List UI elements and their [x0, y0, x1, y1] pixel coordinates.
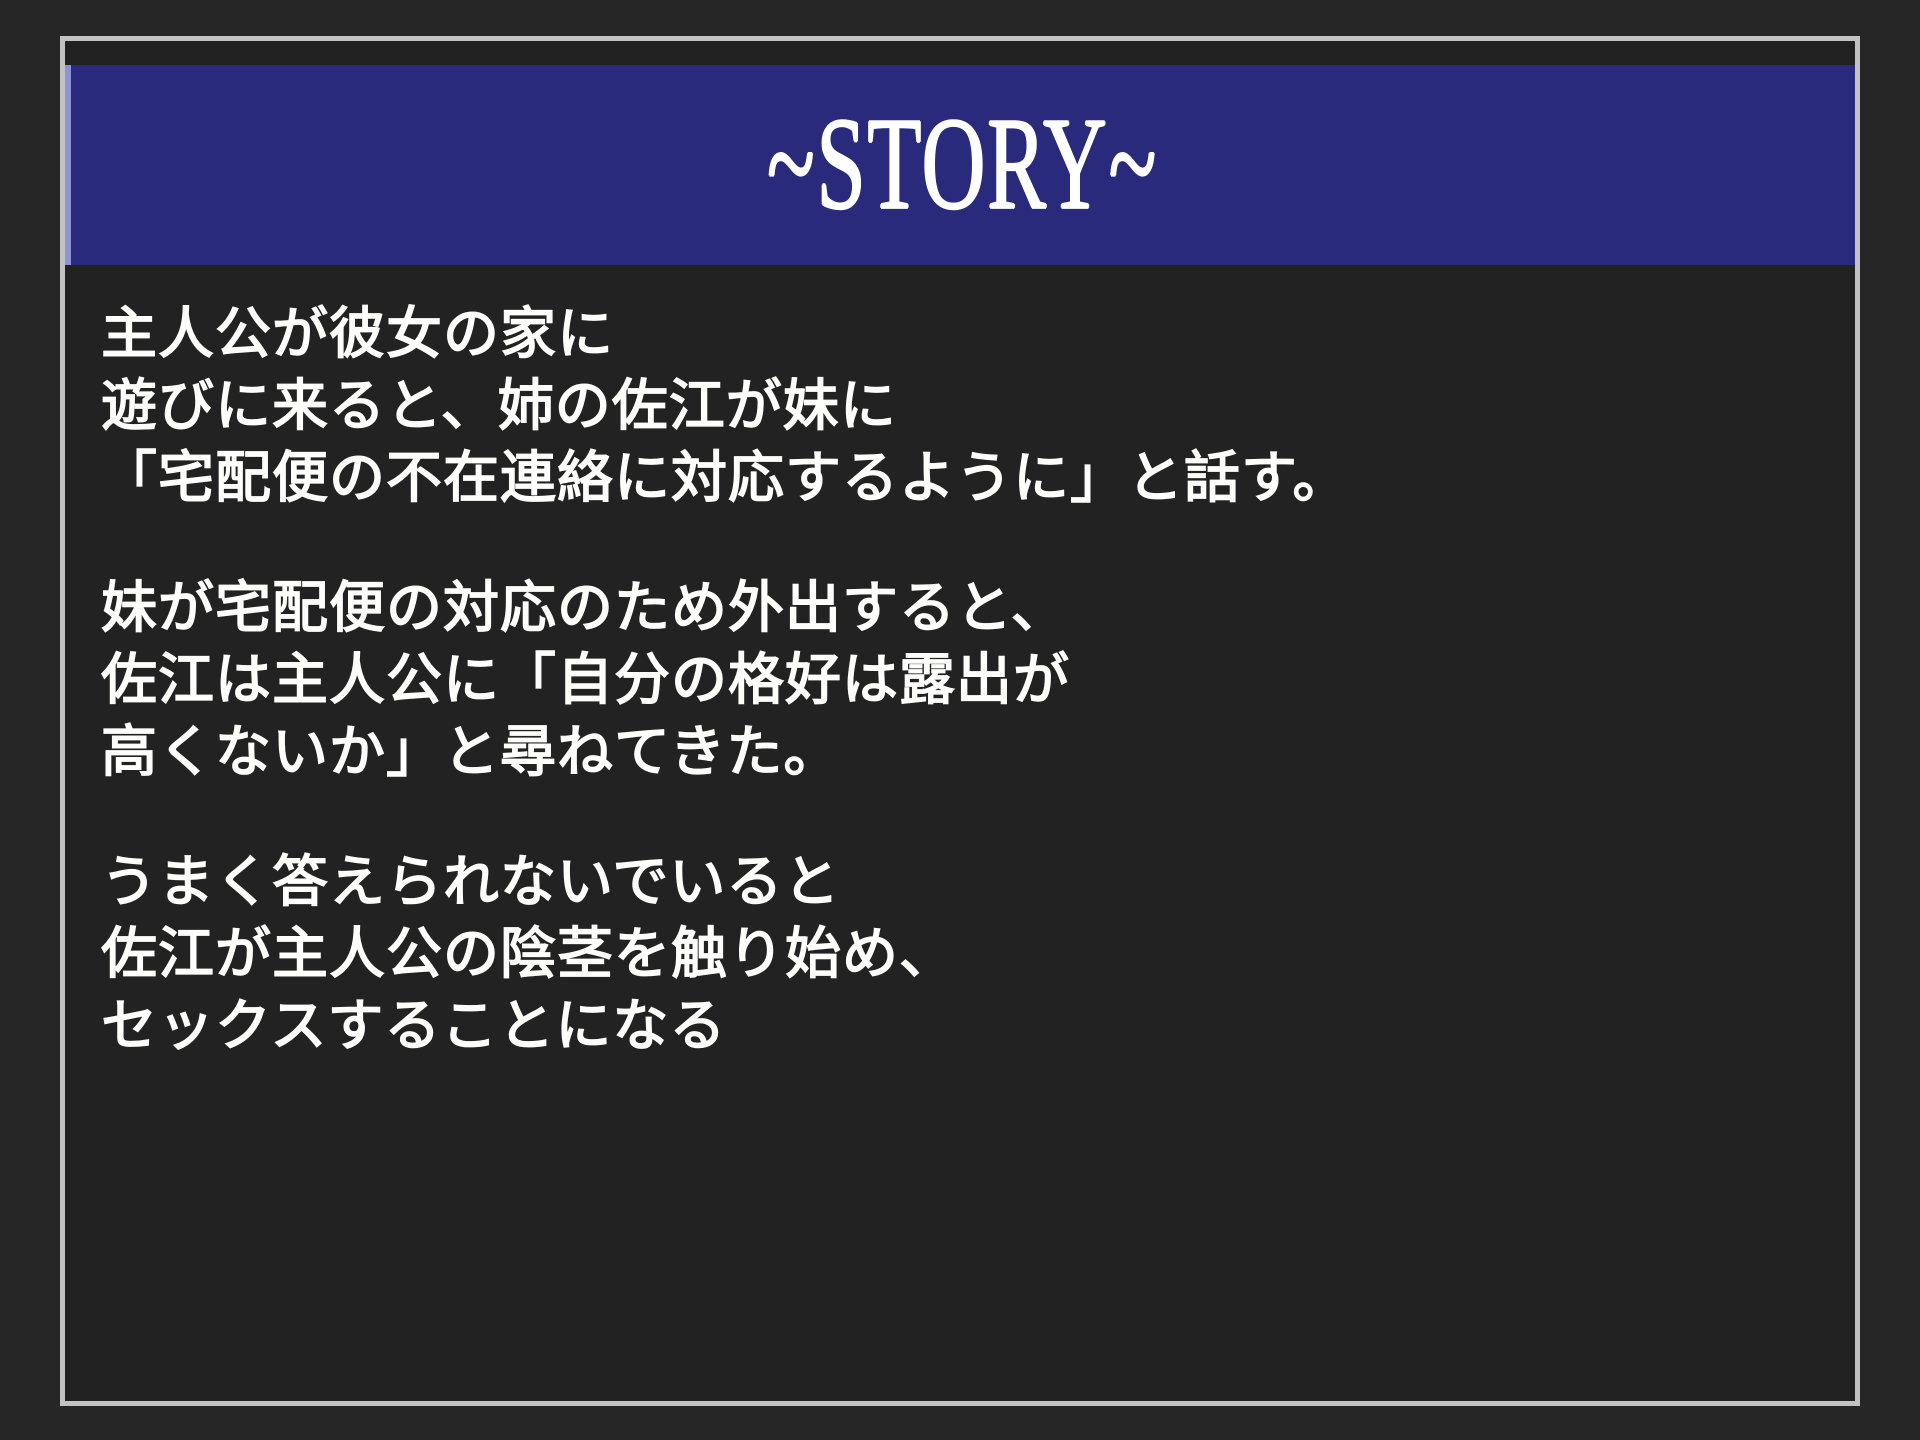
- story-line: 「宅配便の不在連絡に対応するように」と話す。: [101, 443, 1825, 515]
- story-line: うまく答えられないでいると: [101, 847, 1825, 919]
- story-line: 遊びに来ると、姉の佐江が妹に: [101, 371, 1825, 443]
- story-line: 高くないか」と尋ねてきた。: [101, 717, 1825, 789]
- story-slide: ~STORY~ 主人公が彼女の家に 遊びに来ると、姉の佐江が妹に 「宅配便の不在…: [0, 0, 1920, 1440]
- story-line: 妹が宅配便の対応のため外出すると、: [101, 573, 1825, 645]
- story-paragraph-2: 妹が宅配便の対応のため外出すると、 佐江は主人公に「自分の格好は露出が 高くない…: [101, 573, 1825, 789]
- story-line: 佐江は主人公に「自分の格好は露出が: [101, 645, 1825, 717]
- story-body: 主人公が彼女の家に 遊びに来ると、姉の佐江が妹に 「宅配便の不在連絡に対応するよ…: [101, 299, 1825, 1063]
- story-paragraph-3: うまく答えられないでいると 佐江が主人公の陰茎を触り始め、 セックスすることにな…: [101, 847, 1825, 1063]
- story-line: 佐江が主人公の陰茎を触り始め、: [101, 919, 1825, 991]
- page-title: ~STORY~: [767, 99, 1158, 231]
- story-paragraph-1: 主人公が彼女の家に 遊びに来ると、姉の佐江が妹に 「宅配便の不在連絡に対応するよ…: [101, 299, 1825, 515]
- slide-frame: ~STORY~ 主人公が彼女の家に 遊びに来ると、姉の佐江が妹に 「宅配便の不在…: [60, 36, 1860, 1406]
- story-line: セックスすることになる: [101, 991, 1825, 1063]
- story-title-banner: ~STORY~: [65, 65, 1855, 265]
- slide-inner-panel: ~STORY~ 主人公が彼女の家に 遊びに来ると、姉の佐江が妹に 「宅配便の不在…: [65, 41, 1855, 1401]
- story-line: 主人公が彼女の家に: [101, 299, 1825, 371]
